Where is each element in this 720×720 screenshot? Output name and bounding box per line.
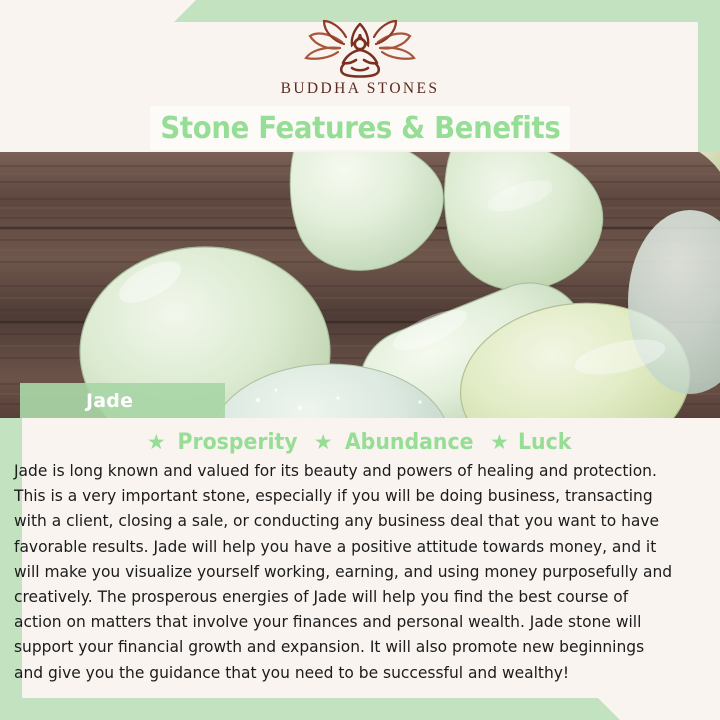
keyword-item-luck: ★ Luck	[490, 430, 573, 455]
star-icon: ★	[147, 432, 166, 453]
hero-caption-label: Jade	[86, 390, 133, 412]
lotus-meditation-icon	[296, 18, 424, 78]
keyword-label: Prosperity	[177, 430, 297, 455]
hero-caption-band: Jade	[20, 383, 225, 418]
jade-stones-photo	[0, 152, 720, 418]
title-banner: Stone Features & Benefits	[150, 106, 570, 150]
decorative-band-bottom	[0, 698, 620, 720]
keyword-list: ★ Prosperity ★ Abundance ★ Luck	[0, 430, 720, 455]
star-icon: ★	[490, 432, 509, 453]
keyword-item-abundance: ★ Abundance	[314, 430, 478, 455]
description-paragraph: Jade is long known and valued for its be…	[14, 458, 677, 685]
brand-logo: BUDDHA STONES	[0, 18, 720, 108]
keyword-label: Luck	[518, 430, 571, 455]
page-title: Stone Features & Benefits	[160, 111, 560, 146]
keyword-item-prosperity: ★ Prosperity	[147, 430, 302, 455]
star-icon: ★	[314, 432, 333, 453]
hero-image	[0, 152, 720, 418]
poster: BUDDHA STONES Stone Features & Benefits	[0, 0, 720, 720]
brand-name: BUDDHA STONES	[281, 80, 440, 98]
keyword-label: Abundance	[344, 430, 473, 455]
